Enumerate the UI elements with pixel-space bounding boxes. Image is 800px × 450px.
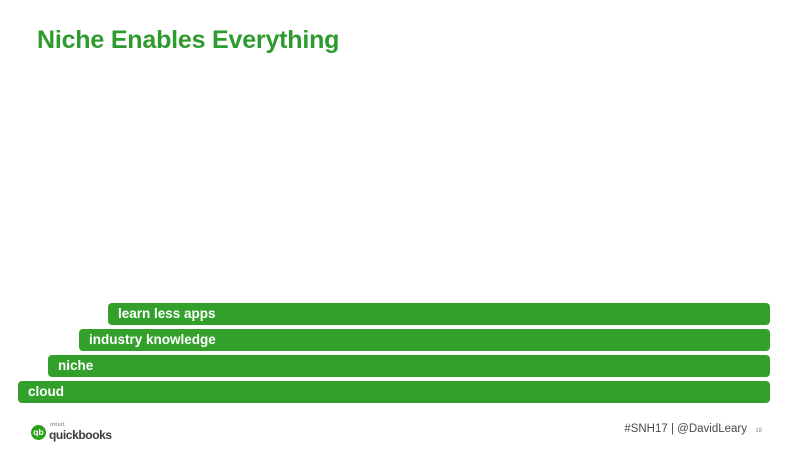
- quickbooks-logo: qb intuit quickbooks: [31, 423, 112, 441]
- bar-label: niche: [48, 359, 93, 373]
- bar-row: niche: [48, 355, 770, 377]
- page-number: 18: [755, 428, 762, 434]
- bar-label: industry knowledge: [79, 333, 216, 347]
- qb-circle-icon: qb: [31, 425, 46, 440]
- footer-credit: #SNH17 | @DavidLeary: [624, 423, 747, 435]
- quickbooks-label: quickbooks: [49, 429, 112, 441]
- bar-row: cloud: [18, 381, 770, 403]
- bar-label: cloud: [18, 385, 64, 399]
- bar-chart: learn less apps industry knowledge niche…: [0, 0, 800, 450]
- bar-row: industry knowledge: [79, 329, 770, 351]
- bar-row: learn less apps: [108, 303, 770, 325]
- qb-wordmark: intuit quickbooks: [49, 423, 112, 442]
- slide-canvas: Niche Enables Everything learn less apps…: [0, 0, 800, 450]
- bar-label: learn less apps: [108, 307, 216, 321]
